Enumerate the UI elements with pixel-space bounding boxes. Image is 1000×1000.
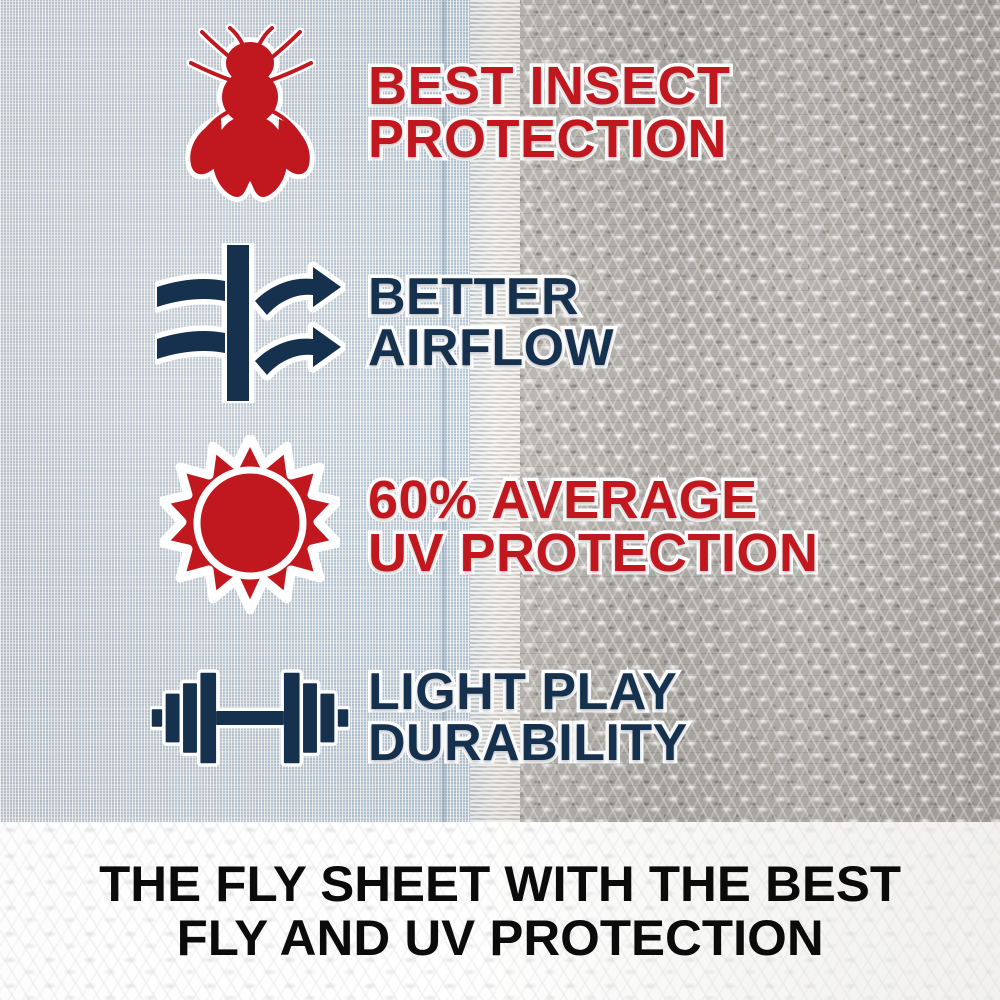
headline-line-2: FLY AND UV PROTECTION — [176, 911, 823, 965]
product-infographic: BEST INSECT PROTECTION — [0, 0, 1000, 1000]
sun-icon — [150, 435, 350, 620]
feature-line-2: AIRFLOW — [368, 323, 614, 374]
feature-label-uv: 60% AVERAGE UV PROTECTION — [368, 474, 819, 580]
feature-label-airflow: BETTER AIRFLOW — [368, 272, 614, 374]
feature-line-2: PROTECTION — [368, 113, 731, 166]
feature-line-1: LIGHT PLAY — [368, 667, 688, 718]
feature-line-1: BETTER — [368, 272, 614, 323]
feature-row-uv: 60% AVERAGE UV PROTECTION — [150, 432, 819, 622]
headline-line-1: THE FLY SHEET WITH THE BEST — [99, 857, 901, 911]
feature-line-1: BEST INSECT — [368, 60, 731, 113]
feature-label-insect: BEST INSECT PROTECTION — [368, 60, 731, 166]
feature-label-durability: LIGHT PLAY DURABILITY — [368, 667, 688, 769]
dumbbell-icon — [150, 662, 350, 774]
feature-row-airflow: BETTER AIRFLOW — [150, 240, 614, 405]
feature-line-2: DURABILITY — [368, 718, 688, 769]
fly-icon — [150, 23, 350, 203]
feature-line-2: UV PROTECTION — [368, 527, 819, 580]
feature-list: BEST INSECT PROTECTION — [0, 0, 1000, 830]
feature-line-1: 60% AVERAGE — [368, 474, 819, 527]
airflow-arrows-icon — [150, 243, 350, 403]
headline-banner: THE FLY SHEET WITH THE BEST FLY AND UV P… — [0, 822, 1000, 1000]
feature-row-durability: LIGHT PLAY DURABILITY — [150, 655, 688, 780]
feature-row-insect: BEST INSECT PROTECTION — [150, 20, 731, 205]
